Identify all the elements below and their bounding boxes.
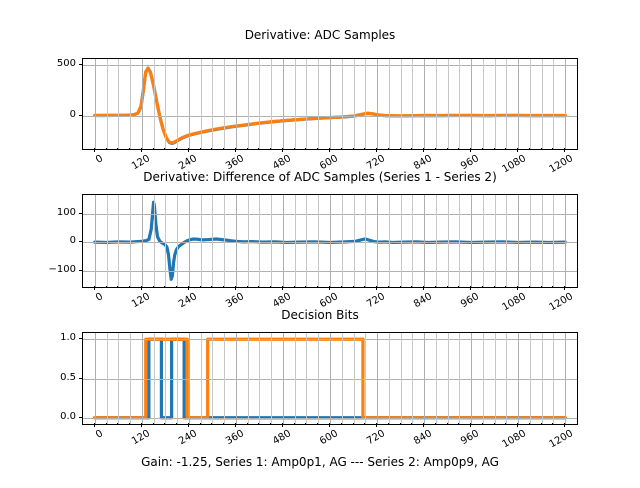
- x-tickmark-minor: [541, 148, 542, 150]
- y-tickmark: [79, 241, 83, 242]
- y-tick-label: 100: [57, 208, 76, 218]
- y-tickmark: [79, 270, 83, 271]
- x-tickmark-minor: [447, 286, 448, 288]
- x-tickmark-minor: [305, 148, 306, 150]
- x-tickmark-minor: [211, 148, 212, 150]
- x-tickmark-minor: [411, 286, 412, 288]
- x-tickmark: [282, 423, 283, 427]
- gridline-vertical: [283, 333, 284, 424]
- gridline-vertical-minor: [154, 195, 155, 287]
- x-tickmark-minor: [317, 286, 318, 288]
- gridline-vertical-minor: [271, 59, 272, 149]
- gridline-vertical-minor: [483, 195, 484, 287]
- x-tickmark-minor: [435, 286, 436, 288]
- y-tickmark: [79, 338, 83, 339]
- gridline-vertical-minor: [295, 195, 296, 287]
- gridline-vertical: [518, 59, 519, 149]
- x-tickmark-minor: [411, 423, 412, 425]
- x-tickmark-minor: [458, 423, 459, 425]
- x-tickmark: [517, 286, 518, 290]
- x-tickmark-minor: [247, 423, 248, 425]
- x-tickmark-minor: [294, 423, 295, 425]
- gridline-vertical: [565, 333, 566, 424]
- gridline-vertical-minor: [553, 333, 554, 424]
- gridline-vertical: [189, 59, 190, 149]
- x-tickmark-minor: [164, 423, 165, 425]
- gridline-vertical: [236, 195, 237, 287]
- gridline-vertical-minor: [365, 59, 366, 149]
- x-tickmark-minor: [247, 148, 248, 150]
- gridline-vertical-minor: [130, 333, 131, 424]
- gridline-vertical-minor: [248, 59, 249, 149]
- y-tick-label: 500: [57, 59, 76, 69]
- gridline-vertical-minor: [553, 195, 554, 287]
- gridline-vertical-minor: [542, 195, 543, 287]
- y-tick-label: 0: [70, 236, 76, 246]
- x-tickmark-minor: [552, 423, 553, 425]
- x-tickmark-minor: [341, 286, 342, 288]
- gridline-vertical-minor: [389, 59, 390, 149]
- x-tickmark-minor: [176, 423, 177, 425]
- x-tickmark-minor: [305, 286, 306, 288]
- gridline-vertical-minor: [224, 333, 225, 424]
- x-tickmark-minor: [164, 286, 165, 288]
- gridline-vertical-minor: [412, 333, 413, 424]
- gridline-vertical-minor: [530, 59, 531, 149]
- x-tickmark-minor: [435, 423, 436, 425]
- x-tickmark: [141, 423, 142, 427]
- x-tickmark: [282, 286, 283, 290]
- x-tickmark-minor: [447, 423, 448, 425]
- gridline-vertical-minor: [177, 333, 178, 424]
- x-tickmark: [470, 148, 471, 152]
- gridline-vertical-minor: [436, 333, 437, 424]
- gridline-vertical-minor: [389, 333, 390, 424]
- gridline-vertical-minor: [365, 333, 366, 424]
- gridline-vertical-minor: [412, 195, 413, 287]
- gridline-vertical-minor: [342, 59, 343, 149]
- gridline-vertical-minor: [107, 195, 108, 287]
- x-tickmark-minor: [494, 286, 495, 288]
- gridline-vertical: [330, 59, 331, 149]
- gridline-vertical-minor: [506, 333, 507, 424]
- gridline-vertical-minor: [506, 195, 507, 287]
- x-tickmark: [94, 286, 95, 290]
- x-tickmark-minor: [341, 423, 342, 425]
- x-tickmark-minor: [353, 148, 354, 150]
- gridline-vertical: [283, 59, 284, 149]
- gridline-vertical: [565, 195, 566, 287]
- x-tickmark: [470, 423, 471, 427]
- gridline-vertical: [142, 333, 143, 424]
- x-tickmark-minor: [435, 148, 436, 150]
- x-tickmark-minor: [364, 148, 365, 150]
- gridline-vertical-minor: [483, 333, 484, 424]
- x-tickmark-minor: [200, 148, 201, 150]
- x-tickmark-minor: [117, 286, 118, 288]
- x-tickmark: [329, 148, 330, 152]
- gridline-vertical-minor: [224, 59, 225, 149]
- x-tickmark-minor: [153, 148, 154, 150]
- gridline-vertical: [377, 333, 378, 424]
- gridline-vertical-minor: [318, 59, 319, 149]
- gridline-vertical-minor: [271, 333, 272, 424]
- x-tickmark-minor: [400, 148, 401, 150]
- x-tickmark: [188, 286, 189, 290]
- x-tickmark-minor: [341, 148, 342, 150]
- gridline-vertical: [189, 195, 190, 287]
- gridline-vertical-minor: [318, 195, 319, 287]
- gridline-vertical: [236, 59, 237, 149]
- x-tickmark: [564, 148, 565, 152]
- gridline-vertical: [518, 333, 519, 424]
- gridline-vertical-minor: [459, 59, 460, 149]
- x-tickmark: [94, 423, 95, 427]
- x-tickmark-minor: [117, 148, 118, 150]
- x-tickmark-minor: [270, 148, 271, 150]
- x-tickmark-minor: [153, 286, 154, 288]
- x-tickmark: [470, 286, 471, 290]
- gridline-vertical-minor: [483, 59, 484, 149]
- x-tickmark-minor: [529, 423, 530, 425]
- y-tickmark: [79, 64, 83, 65]
- x-tickmark-minor: [270, 286, 271, 288]
- x-tickmark: [376, 423, 377, 427]
- gridline-vertical-minor: [542, 333, 543, 424]
- gridline-vertical-minor: [154, 333, 155, 424]
- gridline-vertical-minor: [459, 333, 460, 424]
- x-tickmark-minor: [258, 286, 259, 288]
- x-tickmark-minor: [541, 423, 542, 425]
- y-tick-label: 0: [70, 110, 76, 120]
- gridline-vertical-minor: [354, 195, 355, 287]
- gridline-vertical-minor: [295, 59, 296, 149]
- gridline-vertical-minor: [506, 59, 507, 149]
- gridline-vertical-minor: [201, 333, 202, 424]
- x-tickmark-minor: [129, 423, 130, 425]
- gridline-vertical: [142, 195, 143, 287]
- gridline-vertical: [142, 59, 143, 149]
- x-tickmark-minor: [552, 286, 553, 288]
- gridline-vertical-minor: [553, 59, 554, 149]
- gridline-vertical: [330, 333, 331, 424]
- x-tickmark: [235, 286, 236, 290]
- x-tickmark-minor: [129, 148, 130, 150]
- x-tickmark-minor: [211, 286, 212, 288]
- gridline-vertical-minor: [118, 59, 119, 149]
- gridline-vertical-minor: [459, 195, 460, 287]
- x-tickmark-minor: [364, 423, 365, 425]
- gridline-vertical: [424, 195, 425, 287]
- y-tick-label: 0.5: [60, 373, 76, 383]
- x-tickmark: [564, 286, 565, 290]
- x-tickmark-minor: [164, 148, 165, 150]
- gridline-vertical-minor: [495, 59, 496, 149]
- x-tickmark-minor: [458, 148, 459, 150]
- x-tickmark-minor: [270, 423, 271, 425]
- x-tickmark-minor: [200, 286, 201, 288]
- gridline-vertical-minor: [365, 195, 366, 287]
- x-tickmark-minor: [106, 148, 107, 150]
- gridline-vertical: [330, 195, 331, 287]
- gridline-vertical-minor: [165, 59, 166, 149]
- gridline-vertical: [236, 333, 237, 424]
- gridline-vertical-minor: [318, 333, 319, 424]
- gridline-vertical-minor: [224, 195, 225, 287]
- x-tickmark-minor: [106, 286, 107, 288]
- y-tick-label: −100: [49, 265, 76, 275]
- gridline-vertical-minor: [436, 195, 437, 287]
- gridline-vertical-minor: [389, 195, 390, 287]
- x-tickmark-minor: [482, 286, 483, 288]
- y-tickmark: [79, 115, 83, 116]
- x-tickmark-minor: [117, 423, 118, 425]
- gridline-vertical: [377, 195, 378, 287]
- x-tickmark-minor: [223, 286, 224, 288]
- gridline-vertical: [471, 333, 472, 424]
- subplot-1-axes: [82, 58, 578, 150]
- gridline-vertical-minor: [412, 59, 413, 149]
- x-tickmark-minor: [258, 423, 259, 425]
- y-tick-label: 0.0: [60, 412, 76, 422]
- gridline-vertical-minor: [436, 59, 437, 149]
- gridline-vertical: [471, 195, 472, 287]
- x-tickmark: [188, 423, 189, 427]
- gridline-vertical: [424, 333, 425, 424]
- x-tickmark: [376, 148, 377, 152]
- x-tickmark: [423, 148, 424, 152]
- x-tickmark-minor: [505, 148, 506, 150]
- x-tickmark-minor: [541, 286, 542, 288]
- gridline-vertical: [565, 59, 566, 149]
- gridline-vertical: [424, 59, 425, 149]
- x-tickmark-minor: [353, 286, 354, 288]
- x-tickmark-minor: [400, 286, 401, 288]
- x-tickmark-minor: [482, 148, 483, 150]
- y-tickmark: [79, 417, 83, 418]
- gridline-vertical-minor: [271, 195, 272, 287]
- gridline-vertical-minor: [177, 59, 178, 149]
- x-tickmark-minor: [388, 423, 389, 425]
- x-tickmark: [564, 423, 565, 427]
- gridline-vertical: [518, 195, 519, 287]
- gridline-vertical-minor: [130, 59, 131, 149]
- x-tickmark-minor: [505, 423, 506, 425]
- gridline-vertical-minor: [177, 195, 178, 287]
- x-tickmark-minor: [223, 423, 224, 425]
- gridline-vertical: [189, 333, 190, 424]
- gridline-vertical-minor: [401, 195, 402, 287]
- x-tickmark: [141, 286, 142, 290]
- x-tickmark-minor: [106, 423, 107, 425]
- gridline-vertical-minor: [448, 195, 449, 287]
- gridline-vertical-minor: [248, 333, 249, 424]
- x-tickmark-minor: [176, 148, 177, 150]
- gridline-vertical-minor: [448, 59, 449, 149]
- gridline-vertical-minor: [107, 59, 108, 149]
- x-tickmark-minor: [388, 286, 389, 288]
- x-tickmark-minor: [388, 148, 389, 150]
- x-tickmark-minor: [317, 148, 318, 150]
- x-tickmark-minor: [364, 286, 365, 288]
- x-tickmark: [188, 148, 189, 152]
- gridline-vertical-minor: [201, 195, 202, 287]
- x-tickmark-minor: [400, 423, 401, 425]
- x-tickmark-minor: [153, 423, 154, 425]
- x-tickmark: [235, 423, 236, 427]
- gridline-vertical-minor: [306, 59, 307, 149]
- gridline-vertical-minor: [530, 195, 531, 287]
- x-tickmark-minor: [529, 286, 530, 288]
- x-tickmark-minor: [353, 423, 354, 425]
- y-tick-label: 1.0: [60, 333, 76, 343]
- gridline-vertical-minor: [130, 195, 131, 287]
- gridline-vertical-minor: [201, 59, 202, 149]
- x-tickmark: [329, 286, 330, 290]
- x-tickmark-minor: [505, 286, 506, 288]
- gridline-vertical: [95, 195, 96, 287]
- gridline-vertical: [377, 59, 378, 149]
- x-tickmark-minor: [317, 423, 318, 425]
- gridline-vertical-minor: [530, 333, 531, 424]
- gridline-vertical-minor: [295, 333, 296, 424]
- gridline-vertical: [95, 59, 96, 149]
- x-tickmark: [517, 148, 518, 152]
- gridline-vertical: [283, 195, 284, 287]
- gridline-vertical-minor: [495, 195, 496, 287]
- x-tickmark-minor: [223, 148, 224, 150]
- x-tickmark-minor: [294, 286, 295, 288]
- x-tickmark-minor: [176, 286, 177, 288]
- x-tickmark-minor: [494, 423, 495, 425]
- x-tickmark-minor: [305, 423, 306, 425]
- x-tickmark-minor: [211, 423, 212, 425]
- gridline-vertical-minor: [107, 333, 108, 424]
- gridline-vertical-minor: [154, 59, 155, 149]
- gridline-vertical: [95, 333, 96, 424]
- gridline-vertical-minor: [342, 195, 343, 287]
- y-tickmark: [79, 378, 83, 379]
- x-tickmark: [235, 148, 236, 152]
- gridline-vertical: [471, 59, 472, 149]
- gridline-vertical-minor: [259, 59, 260, 149]
- x-tickmark-minor: [411, 148, 412, 150]
- x-tickmark-minor: [258, 148, 259, 150]
- x-tickmark: [423, 286, 424, 290]
- x-tickmark: [329, 423, 330, 427]
- gridline-vertical-minor: [542, 59, 543, 149]
- subplot-1-title: Derivative: ADC Samples: [0, 28, 640, 42]
- x-tickmark: [376, 286, 377, 290]
- x-tickmark-minor: [482, 423, 483, 425]
- x-tickmark-minor: [529, 148, 530, 150]
- gridline-vertical-minor: [342, 333, 343, 424]
- x-tickmark-minor: [494, 148, 495, 150]
- x-tickmark-minor: [552, 148, 553, 150]
- gridline-vertical-minor: [248, 195, 249, 287]
- x-tickmark-minor: [458, 286, 459, 288]
- x-tickmark: [517, 423, 518, 427]
- x-tickmark: [94, 148, 95, 152]
- x-tickmark-minor: [294, 148, 295, 150]
- x-tickmark-minor: [447, 148, 448, 150]
- figure-canvas: Derivative: ADC Samples Derivative: Diff…: [0, 0, 640, 480]
- x-tickmark-minor: [247, 286, 248, 288]
- x-tickmark-minor: [200, 423, 201, 425]
- gridline-vertical-minor: [401, 59, 402, 149]
- x-tickmark-minor: [129, 286, 130, 288]
- gridline-vertical-minor: [354, 59, 355, 149]
- gridline-vertical-minor: [212, 59, 213, 149]
- x-tickmark: [282, 148, 283, 152]
- x-tickmark: [141, 148, 142, 152]
- x-tickmark: [423, 423, 424, 427]
- y-tickmark: [79, 213, 83, 214]
